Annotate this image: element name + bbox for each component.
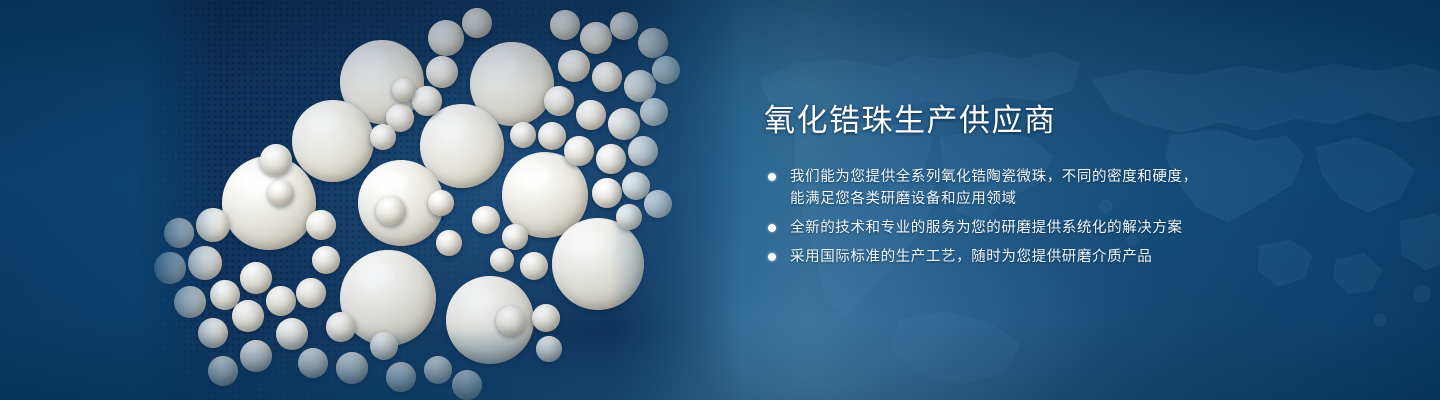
bead — [552, 218, 644, 310]
bead — [638, 28, 668, 58]
bead — [610, 12, 638, 40]
bead — [188, 246, 222, 280]
bead — [628, 136, 658, 166]
bead — [544, 86, 574, 116]
bead — [644, 190, 672, 218]
bead — [424, 356, 452, 384]
bead — [232, 300, 264, 332]
bead — [558, 50, 590, 82]
bead — [608, 108, 640, 140]
bead — [436, 230, 462, 256]
bead — [298, 348, 328, 378]
banner-content: 氧化锆珠生产供应商 我们能为您提供全系列氧化锆陶瓷微珠，不同的密度和硬度， 能满… — [762, 104, 1322, 268]
bead — [326, 312, 356, 342]
bead — [240, 340, 272, 372]
feature-list: 我们能为您提供全系列氧化锆陶瓷微珠，不同的密度和硬度， 能满足您各类研磨设备和应… — [762, 166, 1322, 268]
feature-text-3-line-1: 采用国际标准的生产工艺，随时为您提供研磨介质产品 — [790, 246, 1322, 268]
bead — [452, 370, 482, 400]
bead — [154, 252, 186, 284]
bead — [198, 318, 228, 348]
bead — [536, 336, 562, 362]
bead — [392, 78, 416, 102]
feature-list-item-1: 我们能为您提供全系列氧化锆陶瓷微珠，不同的密度和硬度， 能满足您各类研磨设备和应… — [762, 166, 1322, 210]
bead — [564, 136, 594, 166]
feature-list-item-2: 全新的技术和专业的服务为您的研磨提供系统化的解决方案 — [762, 217, 1322, 239]
bead-cluster — [140, 0, 740, 400]
bead — [462, 8, 492, 38]
bead — [596, 144, 626, 174]
bead — [496, 306, 526, 336]
bead — [520, 252, 548, 280]
bead — [164, 218, 194, 248]
bullet-dot-icon — [768, 173, 776, 181]
bead — [266, 286, 296, 316]
bead — [490, 248, 514, 272]
product-banner: 氧化锆珠生产供应商 我们能为您提供全系列氧化锆陶瓷微珠，不同的密度和硬度， 能满… — [0, 0, 1440, 400]
bead — [532, 304, 560, 332]
bead — [336, 352, 368, 384]
bead — [538, 122, 566, 150]
bullet-dot-icon — [768, 253, 776, 261]
bead — [502, 224, 528, 250]
bead — [428, 20, 464, 56]
bead — [370, 124, 396, 150]
zirconia-beads-photo — [140, 0, 740, 400]
bead — [550, 10, 580, 40]
bead — [386, 362, 416, 392]
bead — [174, 286, 206, 318]
bead — [428, 190, 454, 216]
bead — [260, 144, 292, 176]
bullet-dot-icon — [768, 224, 776, 232]
bead — [208, 356, 238, 386]
bead — [652, 56, 680, 84]
bead — [576, 100, 606, 130]
bead — [292, 100, 374, 182]
feature-text-1-line-1: 我们能为您提供全系列氧化锆陶瓷微珠，不同的密度和硬度， — [790, 166, 1322, 188]
bead — [268, 180, 294, 206]
bead — [296, 278, 326, 308]
bead — [370, 332, 398, 360]
bead — [616, 204, 642, 230]
feature-text-2-line-1: 全新的技术和专业的服务为您的研磨提供系统化的解决方案 — [790, 217, 1322, 239]
bead — [510, 122, 536, 148]
bead — [640, 98, 668, 126]
bead — [276, 318, 308, 350]
feature-text-1-line-2: 能满足您各类研磨设备和应用领域 — [790, 188, 1322, 210]
bead — [312, 246, 340, 274]
feature-list-item-3: 采用国际标准的生产工艺，随时为您提供研磨介质产品 — [762, 246, 1322, 268]
bead — [592, 62, 622, 92]
bead — [592, 178, 622, 208]
bead — [580, 22, 612, 54]
bead — [472, 206, 500, 234]
bead — [426, 56, 458, 88]
bead — [196, 208, 230, 242]
bead — [240, 262, 272, 294]
bead — [412, 86, 442, 116]
bead — [306, 210, 336, 240]
bead — [376, 196, 406, 226]
banner-title: 氧化锆珠生产供应商 — [764, 104, 1322, 138]
